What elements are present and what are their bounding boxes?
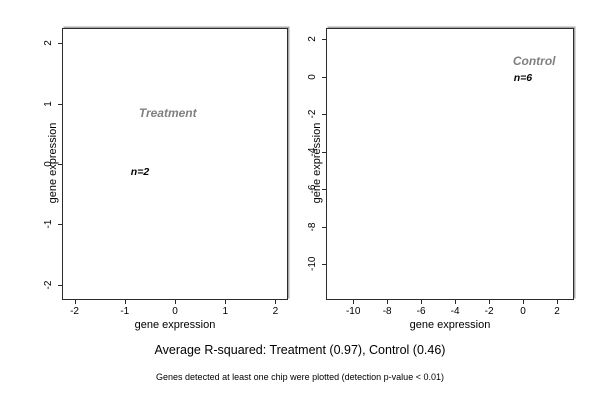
plot-label-treatment: Treatment	[139, 107, 197, 119]
y-tick-label: 0	[308, 70, 318, 84]
caption-main: Average R-squared: Treatment (0.97), Con…	[155, 343, 446, 357]
y-tick-label: -8	[308, 220, 318, 234]
x-tick-label: -10	[346, 307, 360, 317]
plot-label-n-treatment: n=2	[131, 167, 149, 178]
x-axis-title-treatment: gene expression	[135, 319, 216, 331]
x-tick-label: 0	[520, 307, 526, 317]
x-tick-mark	[225, 300, 226, 304]
y-tick-mark	[58, 104, 62, 105]
x-tick-mark	[353, 300, 354, 304]
x-tick-label: 0	[172, 307, 178, 317]
x-tick-label: -6	[417, 307, 426, 317]
y-tick-mark	[322, 39, 326, 40]
x-tick-label: 1	[222, 307, 228, 317]
caption-sub: Genes detected at least one chip were pl…	[156, 372, 444, 382]
x-tick-label: -4	[451, 307, 460, 317]
x-tick-label: -2	[485, 307, 494, 317]
y-tick-label: 2	[44, 36, 54, 50]
y-tick-mark	[58, 43, 62, 44]
x-tick-label: -1	[120, 307, 129, 317]
x-tick-mark	[387, 300, 388, 304]
y-tick-label: 2	[308, 32, 318, 46]
panel-control: Control n=6	[326, 28, 574, 300]
x-tick-mark	[75, 300, 76, 304]
x-tick-label: -2	[70, 307, 79, 317]
x-tick-label: 2	[273, 307, 279, 317]
y-tick-mark	[58, 285, 62, 286]
plot-label-n-control: n=6	[514, 73, 532, 84]
x-tick-mark	[421, 300, 422, 304]
x-axis-title-control: gene expression	[410, 319, 491, 331]
plot-frame-treatment	[62, 28, 288, 300]
x-tick-mark	[455, 300, 456, 304]
x-tick-mark	[523, 300, 524, 304]
x-tick-mark	[275, 300, 276, 304]
y-tick-label: -1	[44, 217, 54, 231]
y-tick-mark	[58, 224, 62, 225]
y-tick-mark	[322, 264, 326, 265]
x-tick-mark	[125, 300, 126, 304]
x-tick-mark	[557, 300, 558, 304]
y-tick-mark	[322, 77, 326, 78]
x-tick-label: -8	[383, 307, 392, 317]
x-tick-mark	[489, 300, 490, 304]
plot-frame-control	[326, 28, 574, 300]
y-tick-label: -2	[44, 278, 54, 292]
y-tick-label: -10	[308, 257, 318, 271]
x-tick-mark	[175, 300, 176, 304]
y-tick-mark	[322, 227, 326, 228]
y-axis-title-treatment: gene expression	[47, 118, 59, 208]
x-tick-label: 2	[554, 307, 560, 317]
y-axis-title-control: gene expression	[311, 118, 323, 208]
figure-root: Treatment n=2 -2-1012-2-1012 gene expres…	[0, 0, 600, 400]
plot-label-control: Control	[513, 55, 556, 67]
y-tick-label: 1	[44, 97, 54, 111]
y-tick-mark	[322, 114, 326, 115]
panel-treatment: Treatment n=2	[62, 28, 288, 300]
